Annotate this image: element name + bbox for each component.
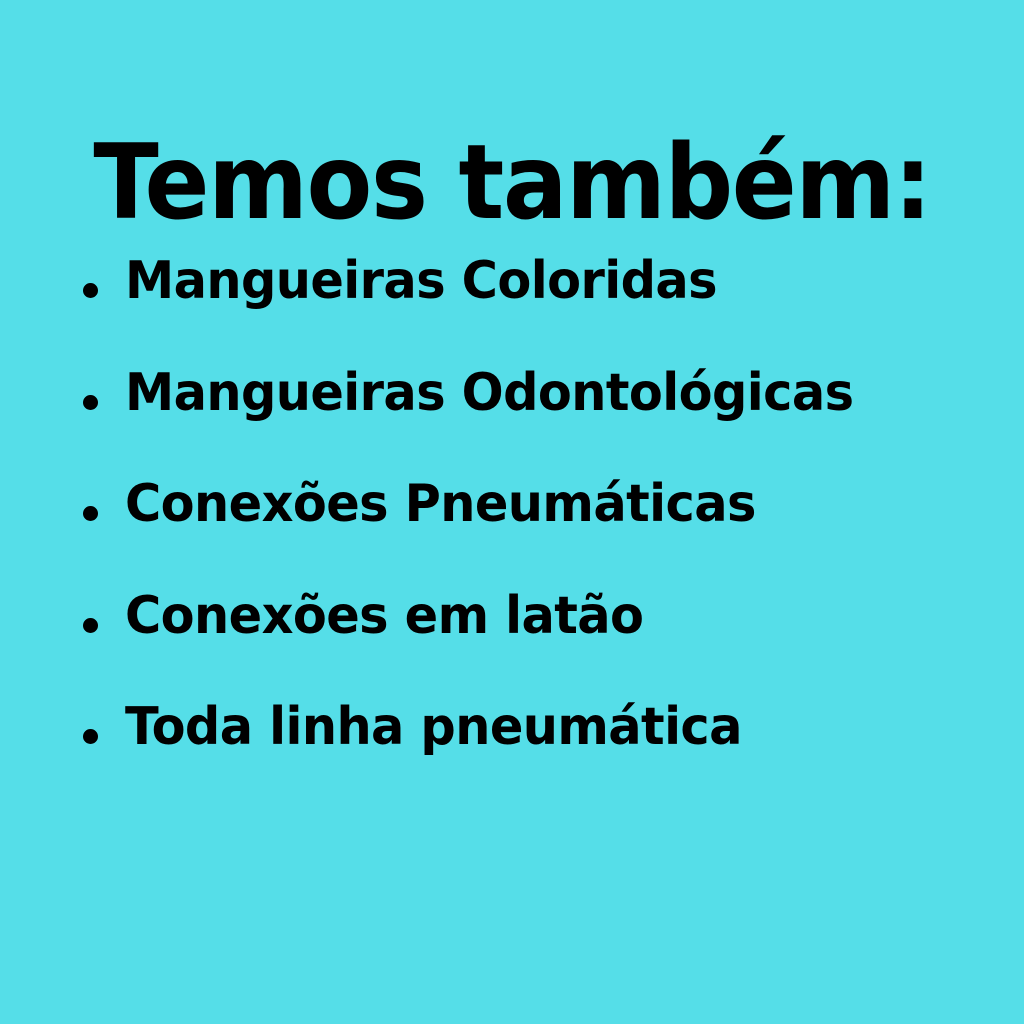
list-item: Mangueiras Odontológicas <box>0 364 1024 476</box>
list-item-label: Toda linha pneumática <box>125 698 742 756</box>
bullet-point-icon <box>83 283 98 298</box>
bullet-point-icon <box>83 618 98 633</box>
promo-poster: Temos também: Mangueiras Coloridas Mangu… <box>0 0 1024 1024</box>
list-item-label: Mangueiras Odontológicas <box>125 364 853 422</box>
list-item-label: Mangueiras Coloridas <box>125 252 717 310</box>
product-list: Mangueiras Coloridas Mangueiras Odontoló… <box>0 252 1024 810</box>
bullet-point-icon <box>83 395 98 410</box>
bullet-point-icon <box>83 506 98 521</box>
list-item: Mangueiras Coloridas <box>0 252 1024 364</box>
list-item: Toda linha pneumática <box>0 698 1024 810</box>
list-item: Conexões em latão <box>0 587 1024 699</box>
page-title: Temos também: <box>36 125 988 241</box>
list-item-label: Conexões Pneumáticas <box>125 475 756 533</box>
bullet-point-icon <box>83 729 98 744</box>
list-item: Conexões Pneumáticas <box>0 475 1024 587</box>
list-item-label: Conexões em latão <box>125 587 643 645</box>
